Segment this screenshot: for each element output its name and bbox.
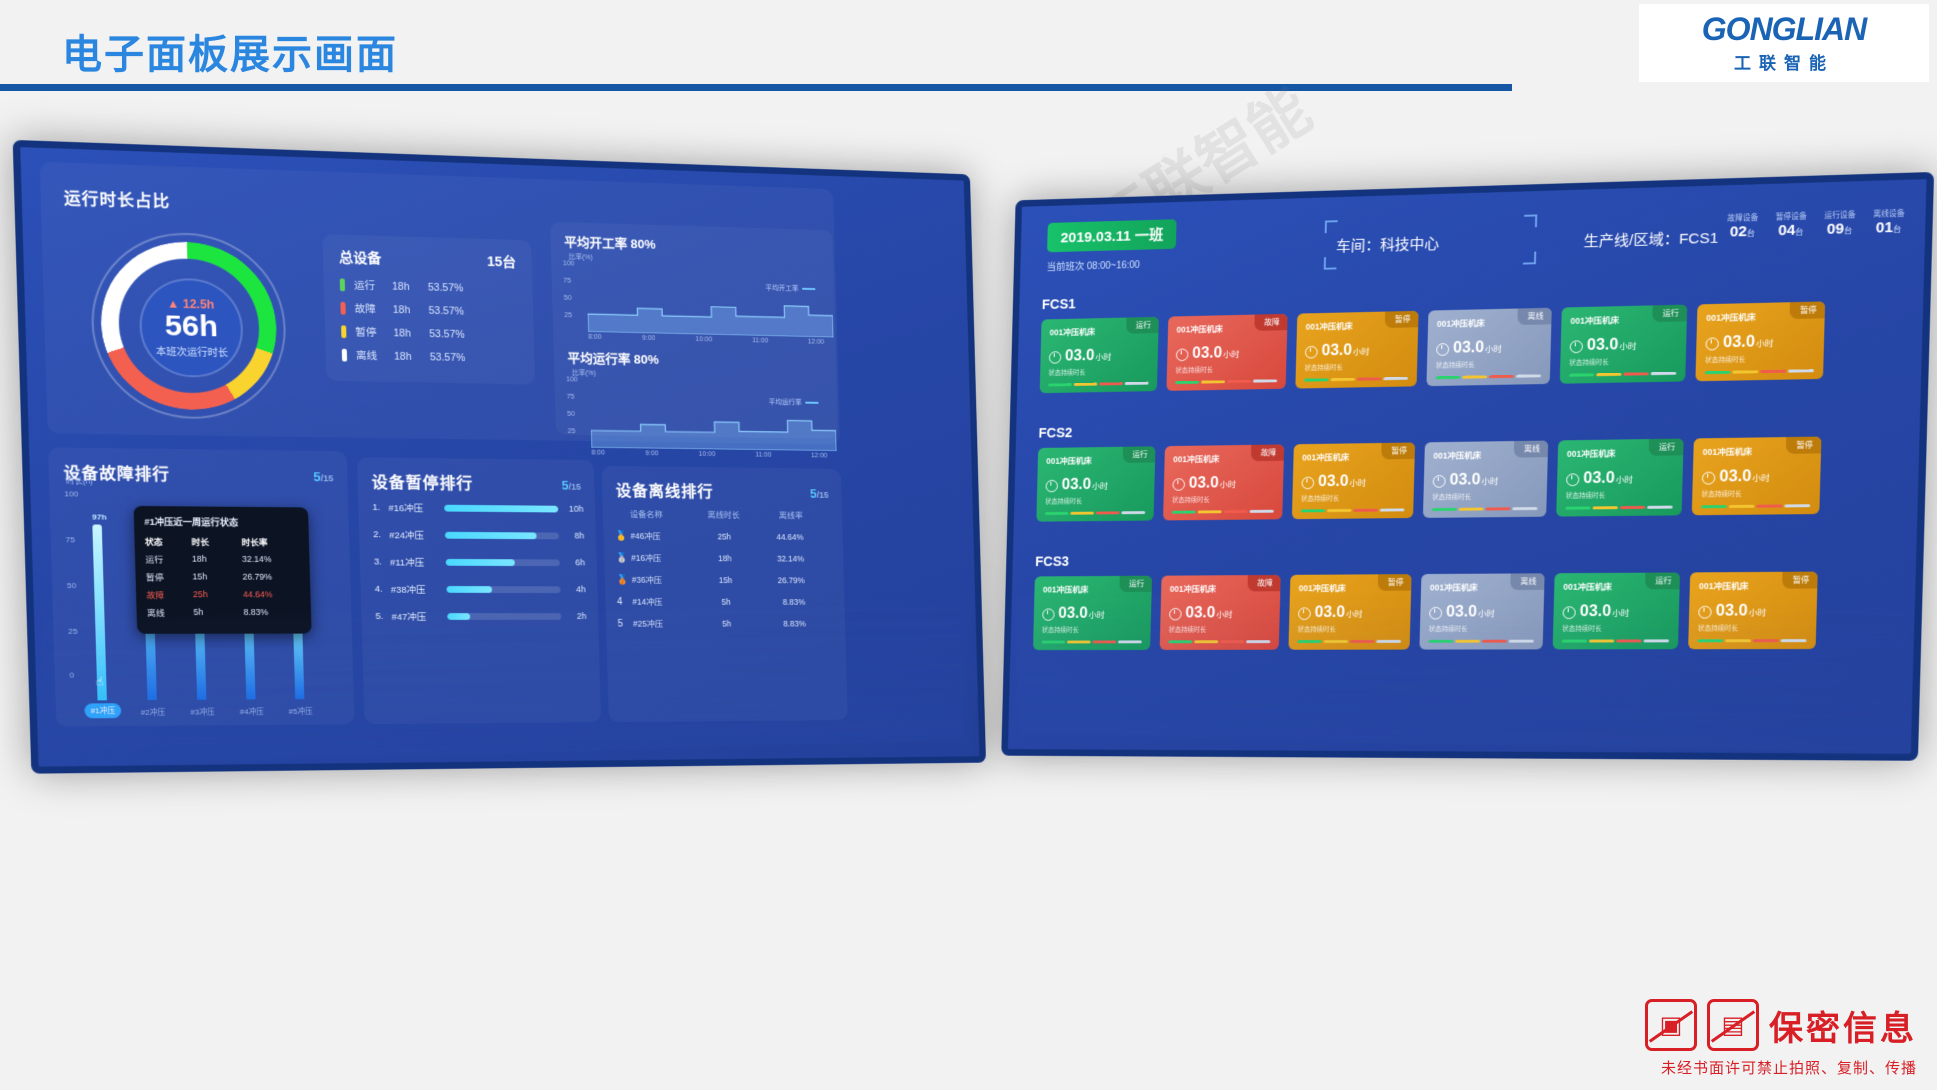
kpi-value: 09台 xyxy=(1824,220,1856,238)
machine-card-row: 001冲压机床运行03.0小时状态持续时长001冲压机床故障03.0小时状态持续… xyxy=(1040,300,1907,394)
donut-caption: 本班次运行时长 xyxy=(156,343,229,359)
x-tick: 11:00 xyxy=(752,337,768,344)
clock-icon xyxy=(1702,471,1716,484)
x-tick: 9:00 xyxy=(642,335,655,342)
machine-card[interactable]: 001冲压机床运行03.0小时状态持续时长 xyxy=(1040,317,1159,393)
total-devices-value: 15台 xyxy=(487,251,517,271)
machine-status-badge: 故障 xyxy=(1247,575,1280,591)
kpi-summary: 故障设备02台暂停设备04台运行设备09台离线设备01台 xyxy=(1727,208,1905,241)
fault-count: 5/15 xyxy=(313,469,333,484)
rank-index: 1. xyxy=(372,502,388,513)
x-tick: 8:00 xyxy=(591,450,604,457)
machine-status-badge: 离线 xyxy=(1514,441,1548,458)
x-tick: 8:00 xyxy=(588,334,601,341)
group-fcs1: FCS1001冲压机床运行03.0小时状态持续时长001冲压机床故障03.0小时… xyxy=(1040,276,1907,394)
pause-panel-title: 设备暂停排行 xyxy=(371,469,473,493)
clock-icon xyxy=(1176,348,1189,361)
machine-duration: 03.0小时 xyxy=(1049,347,1150,364)
status-mini-bars xyxy=(1175,379,1277,384)
stat-row: 故障18h53.57% xyxy=(340,301,517,320)
machine-status-badge: 故障 xyxy=(1251,444,1284,461)
offline-panel-header: 设备离线排行 5/15 xyxy=(602,466,842,503)
machine-card[interactable]: 001冲压机床离线03.0小时状态持续时长 xyxy=(1426,308,1551,386)
runtime-donut-chart: ▲ 12.5h 56h 本班次运行时长 xyxy=(99,239,279,411)
status-hours: 18h xyxy=(392,280,428,293)
device-name: #16冲压 xyxy=(388,500,444,514)
tooltip-row: 运行18h32.14% xyxy=(145,554,299,567)
status-mini-bars xyxy=(1701,504,1810,508)
list-item[interactable]: 3.#11冲压6h xyxy=(374,555,585,569)
machine-card[interactable]: 001冲压机床暂停03.0小时状态持续时长 xyxy=(1295,311,1418,389)
bracket-icon xyxy=(1324,257,1337,270)
machine-status-badge: 离线 xyxy=(1517,308,1551,325)
status-mini-bars xyxy=(1569,372,1676,377)
table-row[interactable]: 🥈#16冲压18h32.14% xyxy=(616,552,834,564)
clock-icon xyxy=(1301,476,1314,489)
tooltip-row: 暂停15h26.79% xyxy=(146,571,300,583)
list-item[interactable]: 2.#24冲压8h xyxy=(373,527,584,542)
clock-icon xyxy=(1705,337,1719,350)
x-tick: 12:00 xyxy=(808,339,825,346)
stat-row: 暂停18h53.57% xyxy=(341,324,518,342)
machine-duration-caption: 状态持续时长 xyxy=(1172,493,1274,504)
offline-rate: 26.79% xyxy=(752,575,805,585)
progress-track xyxy=(446,558,560,565)
confidential-notice: ▣ ▤ 保密信息 未经书面许可禁止拍照、复制、传播 xyxy=(1645,999,1917,1078)
y-tick: 100 xyxy=(566,376,578,383)
rank-medal-icon: 🥈 xyxy=(616,553,632,564)
left-screen-reflection xyxy=(40,600,968,765)
machine-status-badge: 故障 xyxy=(1254,314,1287,331)
machine-status-badge: 运行 xyxy=(1649,439,1684,456)
machine-status-badge: 暂停 xyxy=(1385,311,1419,328)
rank-index: 4. xyxy=(375,583,391,594)
clock-icon xyxy=(1436,343,1449,356)
table-row[interactable]: 🥉#36冲压15h26.79% xyxy=(616,574,834,586)
confidential-note: 未经书面许可禁止拍照、复制、传播 xyxy=(1645,1057,1917,1078)
stat-row: 运行18h53.57% xyxy=(340,277,517,296)
device-name: #16冲压 xyxy=(631,552,698,564)
machine-card[interactable]: 001冲压机床故障03.0小时状态持续时长 xyxy=(1163,444,1284,520)
run-rate-area xyxy=(589,379,836,451)
progress-track xyxy=(445,531,559,538)
kpi-value: 04台 xyxy=(1775,222,1806,240)
machine-status-badge: 离线 xyxy=(1510,573,1544,590)
tooltip-title: #1冲压近一周运行状态 xyxy=(144,515,298,529)
machine-duration: 03.0小时 xyxy=(1570,336,1678,354)
machine-duration-caption: 状态持续时长 xyxy=(1045,495,1145,506)
table-row[interactable]: 🥇#46冲压25h44.64% xyxy=(615,530,834,543)
machine-card[interactable]: 001冲压机床运行03.0小时状态持续时长 xyxy=(1036,446,1155,521)
machine-duration: 03.0小时 xyxy=(1566,470,1674,487)
right-screen-reflection xyxy=(1016,591,1912,755)
machine-duration-caption: 状态持续时长 xyxy=(1436,358,1542,370)
machine-status-badge: 运行 xyxy=(1652,305,1687,323)
y-tick: 100 xyxy=(563,260,575,267)
machine-status-badge: 运行 xyxy=(1123,446,1156,463)
machine-status-badge: 运行 xyxy=(1126,317,1159,334)
machine-status-badge: 暂停 xyxy=(1381,442,1415,459)
machine-card[interactable]: 001冲压机床故障03.0小时状态持续时长 xyxy=(1166,314,1287,391)
machine-duration-caption: 状态持续时长 xyxy=(1049,366,1149,377)
machine-duration-caption: 状态持续时长 xyxy=(1305,360,1409,372)
y-tick: 50 xyxy=(564,295,572,302)
rank-medal-icon: 🥉 xyxy=(616,575,632,586)
date-badge: 2019.03.11 一班 xyxy=(1047,219,1177,252)
run-rate-title: 平均运行率 80% xyxy=(567,348,825,371)
kpi-label: 离线设备 xyxy=(1873,208,1905,220)
offline-rate: 32.14% xyxy=(751,554,804,564)
machine-duration-caption: 状态持续时长 xyxy=(1175,363,1277,375)
offline-rate: 44.64% xyxy=(751,532,804,542)
pause-panel-header: 设备暂停排行 5/15 xyxy=(357,457,595,494)
status-pct: 53.57% xyxy=(430,351,466,363)
stats-header: 总设备 15台 xyxy=(339,247,516,271)
kpi-value: 02台 xyxy=(1727,223,1758,241)
machine-duration: 03.0小时 xyxy=(1702,468,1811,485)
bracket-icon xyxy=(1523,252,1536,265)
status-hours: 18h xyxy=(393,304,429,317)
clock-icon xyxy=(1049,351,1062,364)
company-logo: GONGLIAN 工联智能 xyxy=(1639,4,1929,82)
status-name: 故障 xyxy=(354,301,393,317)
y-tick: 25 xyxy=(568,428,576,435)
progress-track xyxy=(446,586,560,593)
machine-duration: 03.0小时 xyxy=(1176,345,1278,362)
rank-index: 3. xyxy=(374,556,390,567)
tooltip-row: 故障25h44.64% xyxy=(146,589,300,601)
machine-duration-caption: 状态持续时长 xyxy=(1432,490,1538,501)
status-dot xyxy=(341,325,346,338)
offline-duration: 15h xyxy=(699,575,752,585)
no-photo-icon: ▣ xyxy=(1645,999,1697,1051)
machine-duration: 03.0小时 xyxy=(1433,472,1539,489)
fault-y-unit: 时长(h) xyxy=(66,475,93,486)
status-mini-bars xyxy=(1565,506,1672,510)
fault-bar-value: 97h xyxy=(92,513,107,522)
rank-value: 8h xyxy=(559,531,585,541)
status-pct: 53.57% xyxy=(428,305,464,317)
kpi-value: 01台 xyxy=(1873,219,1905,237)
y-tick: 75 xyxy=(567,394,575,401)
status-mini-bars xyxy=(1301,508,1405,512)
logo-wordmark: GONGLIAN xyxy=(1702,13,1866,45)
y-tick: 25 xyxy=(564,312,572,319)
status-name: 暂停 xyxy=(355,325,394,340)
machine-card[interactable]: 001冲压机床离线03.0小时状态持续时长 xyxy=(1423,441,1548,518)
bracket-icon xyxy=(1524,214,1537,227)
rank-medal-icon: 🥇 xyxy=(615,531,631,542)
machine-duration: 03.0小时 xyxy=(1705,333,1815,351)
confidential-title: 保密信息 xyxy=(1769,1001,1917,1050)
status-mini-bars xyxy=(1172,510,1274,514)
machine-duration: 03.0小时 xyxy=(1305,342,1409,360)
x-tick: 10:00 xyxy=(695,336,712,343)
machine-status-badge: 运行 xyxy=(1645,572,1680,589)
open-rate-area xyxy=(586,263,833,337)
kpi-item: 暂停设备04台 xyxy=(1775,211,1807,240)
status-dot xyxy=(342,349,347,362)
machine-status-badge: 运行 xyxy=(1119,576,1152,592)
status-mini-bars xyxy=(1432,507,1537,511)
page-title: 电子面板展示画面 xyxy=(62,22,398,80)
group-fcs2: FCS2001冲压机床运行03.0小时状态持续时长001冲压机床故障03.0小时… xyxy=(1036,411,1903,521)
machine-status-badge: 暂停 xyxy=(1782,572,1818,589)
run-rate-plot: 100 75 50 25 平均运行率 xyxy=(566,378,827,451)
device-name: #24冲压 xyxy=(389,528,445,542)
machine-status-badge: 暂停 xyxy=(1378,574,1412,591)
clock-icon xyxy=(1433,475,1446,488)
x-tick: 9:00 xyxy=(645,450,658,457)
progress-track xyxy=(444,504,558,512)
machine-card[interactable]: 001冲压机床运行03.0小时状态持续时长 xyxy=(1560,305,1688,384)
machine-duration-caption: 状态持续时长 xyxy=(1566,489,1673,500)
clock-icon xyxy=(1570,340,1583,353)
status-mini-bars xyxy=(1705,369,1814,374)
status-mini-bars xyxy=(1304,377,1408,382)
machine-duration: 03.0小时 xyxy=(1045,477,1146,493)
machine-duration: 03.0小时 xyxy=(1172,475,1274,492)
rank-index: 2. xyxy=(373,529,389,540)
kpi-item: 离线设备01台 xyxy=(1873,208,1905,237)
clock-icon xyxy=(1566,473,1579,486)
runtime-card-title: 运行时长占比 xyxy=(63,185,170,212)
group-title: FCS3 xyxy=(1035,547,1900,569)
group-title: FCS2 xyxy=(1038,411,1903,440)
kpi-item: 运行设备09台 xyxy=(1824,209,1856,238)
machine-duration: 03.0小时 xyxy=(1436,339,1542,357)
logo-subtext: 工联智能 xyxy=(1734,49,1834,74)
workshop-label: 车间：科技中心 xyxy=(1336,233,1440,256)
pause-count: 5/15 xyxy=(561,478,581,493)
offline-duration: 18h xyxy=(698,553,751,563)
run-rate-x-axis: 8:009:0010:0011:0012:00 xyxy=(568,449,827,459)
title-divider xyxy=(0,84,1512,91)
tooltip-header-row: 状态 时长 时长率 xyxy=(145,536,299,549)
open-rate-plot: 100 75 50 25 平均开工率 xyxy=(563,262,824,337)
clock-icon xyxy=(1305,345,1318,358)
clock-icon xyxy=(1172,478,1185,491)
run-rate-legend: 平均运行率 xyxy=(769,397,819,407)
display-wall: 运行时长占比 ▲ 12.5h 56h 本班次运行时长 总设备 15台 运行18h… xyxy=(0,110,1937,910)
status-mini-bars xyxy=(1048,382,1148,387)
clock-icon xyxy=(1046,479,1059,491)
machine-duration: 03.0小时 xyxy=(1301,474,1405,491)
status-name: 运行 xyxy=(354,278,393,294)
bracket-icon xyxy=(1325,220,1338,233)
status-mini-bars xyxy=(1435,374,1540,379)
device-stats-card: 总设备 15台 运行18h53.57%故障18h53.57%暂停18h53.57… xyxy=(322,234,535,384)
status-mini-bars xyxy=(1045,511,1145,515)
machine-card[interactable]: 001冲压机床暂停03.0小时状态持续时长 xyxy=(1292,442,1415,519)
machine-card[interactable]: 001冲压机床运行03.0小时状态持续时长 xyxy=(1556,439,1683,517)
kpi-item: 故障设备02台 xyxy=(1727,212,1759,241)
device-name: #46冲压 xyxy=(630,530,697,542)
machine-card[interactable]: 001冲压机床暂停03.0小时状态持续时长 xyxy=(1695,301,1825,381)
rate-charts-card: 平均开工率 80% 比率(%) 100 75 50 25 平均开工率 8:009… xyxy=(550,222,838,439)
line-label: 生产线/区域：FCS1 xyxy=(1583,227,1718,251)
status-hours: 18h xyxy=(393,327,429,339)
shift-info: 2019.03.11 一班 当前班次 08:00~16:00 xyxy=(1047,219,1178,273)
stat-row: 离线18h53.57% xyxy=(342,348,519,366)
machine-duration-caption: 状态持续时长 xyxy=(1705,352,1814,364)
donut-main-value: 56h xyxy=(164,310,218,342)
device-name: #11冲压 xyxy=(390,555,446,569)
y-tick: 50 xyxy=(567,411,575,418)
status-hours: 18h xyxy=(394,350,430,362)
machine-card[interactable]: 001冲压机床暂停03.0小时状态持续时长 xyxy=(1692,437,1822,516)
x-tick: 10:00 xyxy=(699,451,716,458)
device-name: #38冲压 xyxy=(391,582,447,596)
rank-value: 6h xyxy=(560,558,586,568)
list-item[interactable]: 4.#38冲压4h xyxy=(375,582,586,596)
machine-status-badge: 暂停 xyxy=(1786,437,1822,454)
no-copy-icon: ▤ xyxy=(1707,999,1759,1051)
machine-card-row: 001冲压机床运行03.0小时状态持续时长001冲压机床故障03.0小时状态持续… xyxy=(1036,435,1902,521)
machine-duration-caption: 状态持续时长 xyxy=(1701,487,1810,498)
x-tick: 11:00 xyxy=(755,452,771,459)
x-tick: 12:00 xyxy=(811,453,828,460)
status-name: 离线 xyxy=(356,348,394,363)
status-dot xyxy=(340,302,345,315)
machine-status-badge: 暂停 xyxy=(1789,301,1825,319)
total-devices-label: 总设备 xyxy=(339,247,382,268)
rank-value: 4h xyxy=(560,584,586,594)
list-item[interactable]: 1.#16冲压10h xyxy=(372,500,583,515)
offline-count: 5/15 xyxy=(810,486,829,500)
status-pct: 53.57% xyxy=(428,281,464,294)
table-header-row: 设备名称 离线时长 离线率 xyxy=(614,508,833,521)
offline-panel-title: 设备离线排行 xyxy=(615,478,713,502)
status-pct: 53.57% xyxy=(429,328,465,340)
y-tick: 75 xyxy=(563,278,571,285)
machine-duration-caption: 状态持续时长 xyxy=(1301,492,1405,503)
rank-value: 10h xyxy=(558,504,584,514)
open-rate-legend: 平均开工率 xyxy=(765,283,815,294)
device-name: #36冲压 xyxy=(632,574,699,586)
machine-duration-caption: 状态持续时长 xyxy=(1569,355,1676,367)
shift-time: 当前班次 08:00~16:00 xyxy=(1047,255,1177,273)
status-dot xyxy=(340,278,345,291)
offline-duration: 25h xyxy=(698,532,751,542)
